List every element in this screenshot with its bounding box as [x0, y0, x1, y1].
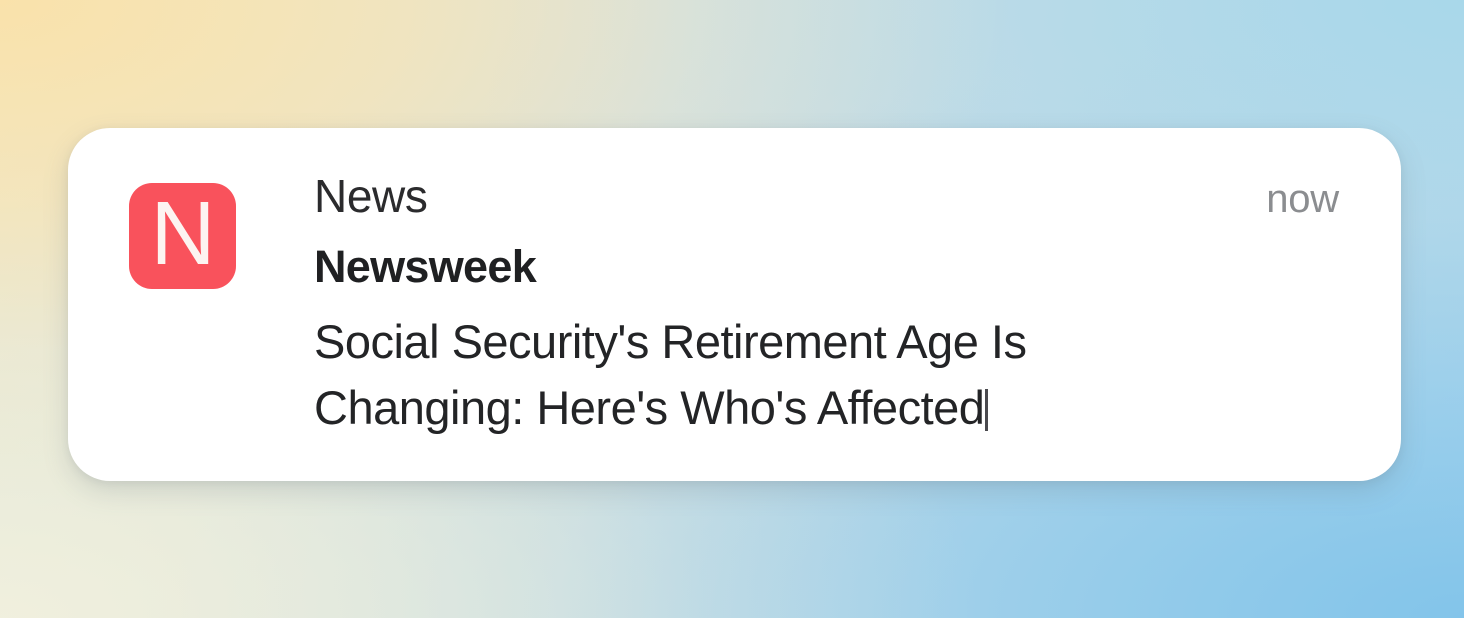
news-app-icon: N [129, 183, 236, 289]
notification-banner[interactable]: N News now Newsweek Social Security's Re… [68, 128, 1401, 481]
notification-source-title: Newsweek [314, 243, 1341, 291]
headline-line-1: Social Security's Retirement Age Is [314, 309, 1194, 375]
notification-timestamp: now [1266, 178, 1341, 220]
notification-content: News now Newsweek Social Security's Reti… [314, 172, 1341, 441]
app-name-label: News [314, 172, 427, 221]
text-caret [985, 389, 988, 431]
news-app-icon-letter: N [151, 189, 215, 279]
headline-line-2: Changing: Here's Who's Affected [314, 381, 984, 434]
notification-header-row: News now [314, 172, 1341, 221]
notification-headline: Social Security's Retirement Age Is Chan… [314, 309, 1194, 441]
